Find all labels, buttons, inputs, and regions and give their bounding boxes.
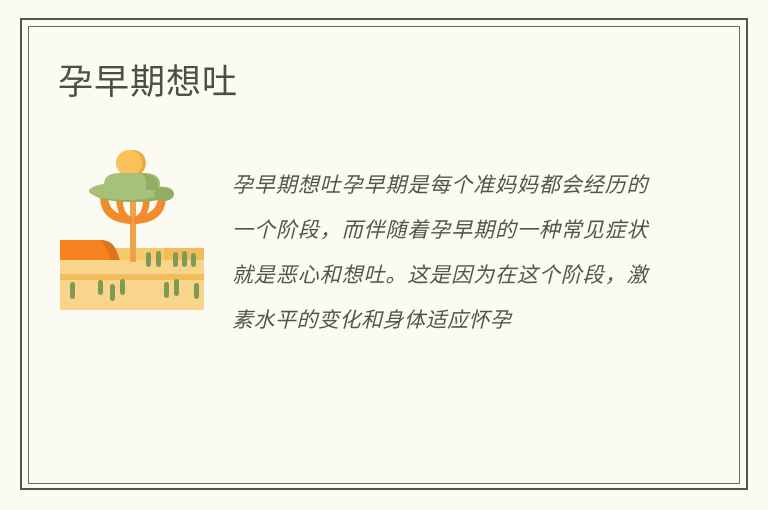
savanna-landscape-illustration [60, 144, 204, 312]
article-body-text: 孕早期想吐孕早期是每个准妈妈都会经历的一个阶段，而伴随着孕早期的一种常见症状就是… [232, 163, 648, 343]
sun-icon [116, 150, 146, 176]
page-canvas: 孕早期想吐 [0, 0, 768, 510]
page-title: 孕早期想吐 [58, 61, 238, 105]
orange-hill [60, 240, 120, 260]
illustration-svg [60, 144, 204, 312]
